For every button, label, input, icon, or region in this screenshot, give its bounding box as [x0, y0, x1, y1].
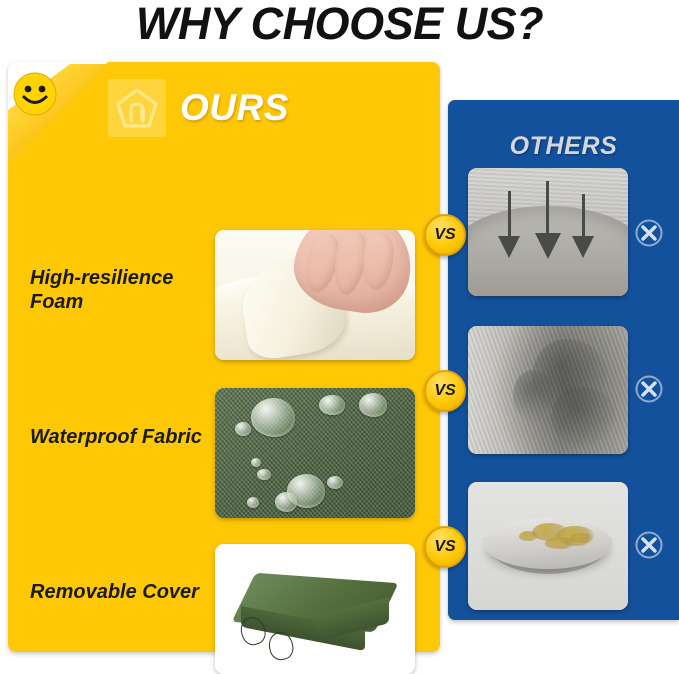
waterproof-fabric-photo: [215, 388, 415, 518]
cross-circle-icon: [634, 218, 664, 248]
wet-stained-fabric-photo: [468, 326, 628, 454]
home-pentagon-icon: [108, 79, 166, 137]
pressure-arrow-head: [498, 236, 520, 258]
yellow-stain: [519, 531, 538, 541]
smiley-face-icon: [12, 71, 58, 117]
water-droplet: [327, 476, 343, 489]
sagging-foam-art: [468, 168, 628, 296]
cross-circle-icon: [634, 530, 664, 560]
ours-header: OURS: [108, 79, 289, 137]
feature-label-foam: High-resilience Foam: [30, 267, 210, 314]
vs-badge: VS: [424, 370, 466, 412]
cross-circle-icon: [634, 374, 664, 404]
water-stain-blotch: [513, 370, 555, 421]
vs-badge: VS: [424, 526, 466, 568]
water-droplet: [251, 398, 295, 437]
page-title: WHY CHOOSE US?: [0, 0, 679, 50]
cover-art: [215, 544, 415, 674]
feature-label-fabric: Waterproof Fabric: [30, 426, 210, 450]
water-droplet: [251, 458, 261, 467]
ours-panel: OURS High-resilience Foam Waterproof Fab…: [8, 62, 440, 652]
water-stain-blotch: [551, 387, 615, 446]
vs-badge: VS: [424, 214, 466, 256]
wet-fabric-art: [468, 326, 628, 454]
stained-cushion-art: [468, 482, 628, 610]
others-heading: OTHERS: [448, 132, 679, 161]
pressure-arrow-head: [535, 233, 561, 259]
water-droplet: [257, 469, 271, 481]
feature-label-cover: Removable Cover: [30, 581, 210, 605]
removable-cover-photo: [215, 544, 415, 674]
yellow-stain: [545, 537, 574, 549]
water-droplet: [275, 492, 297, 512]
sagging-foam-photo: [468, 168, 628, 296]
ours-heading: OURS: [180, 87, 289, 129]
water-droplet: [319, 395, 345, 416]
pressure-arrow-head: [572, 236, 594, 258]
water-droplet: [235, 422, 251, 436]
stained-cushion-photo: [468, 482, 628, 610]
water-droplet: [247, 497, 259, 507]
foam-art: [215, 230, 415, 360]
fabric-art: [215, 388, 415, 518]
water-droplet: [359, 393, 387, 416]
foam-resilience-photo: [215, 230, 415, 360]
